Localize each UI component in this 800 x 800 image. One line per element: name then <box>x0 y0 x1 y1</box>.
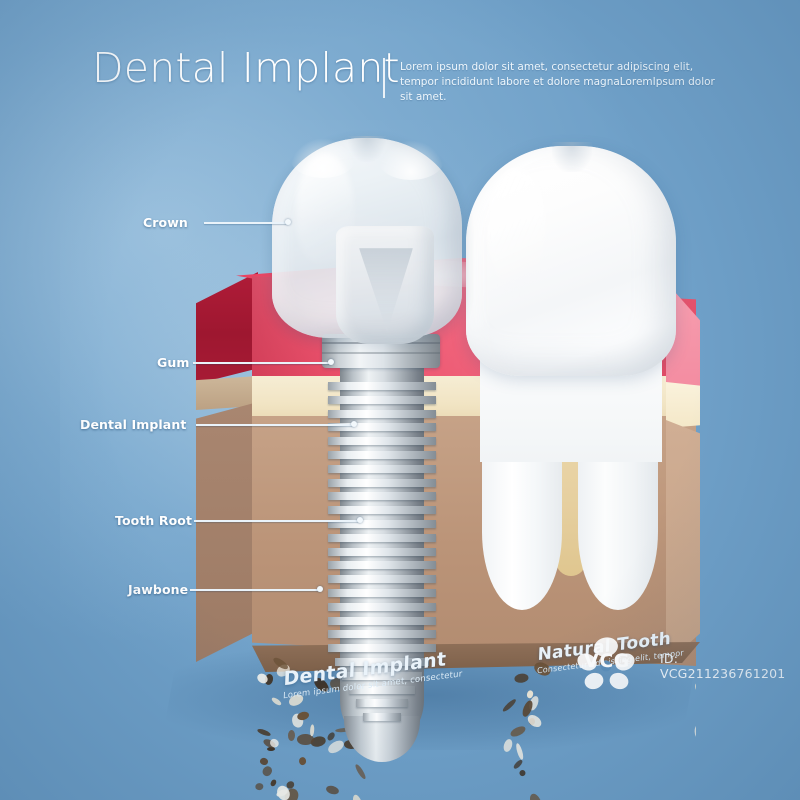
infographic-canvas: Dental Implant Lorem ipsum dolor sit ame… <box>0 0 800 800</box>
background-vignette <box>0 0 800 800</box>
